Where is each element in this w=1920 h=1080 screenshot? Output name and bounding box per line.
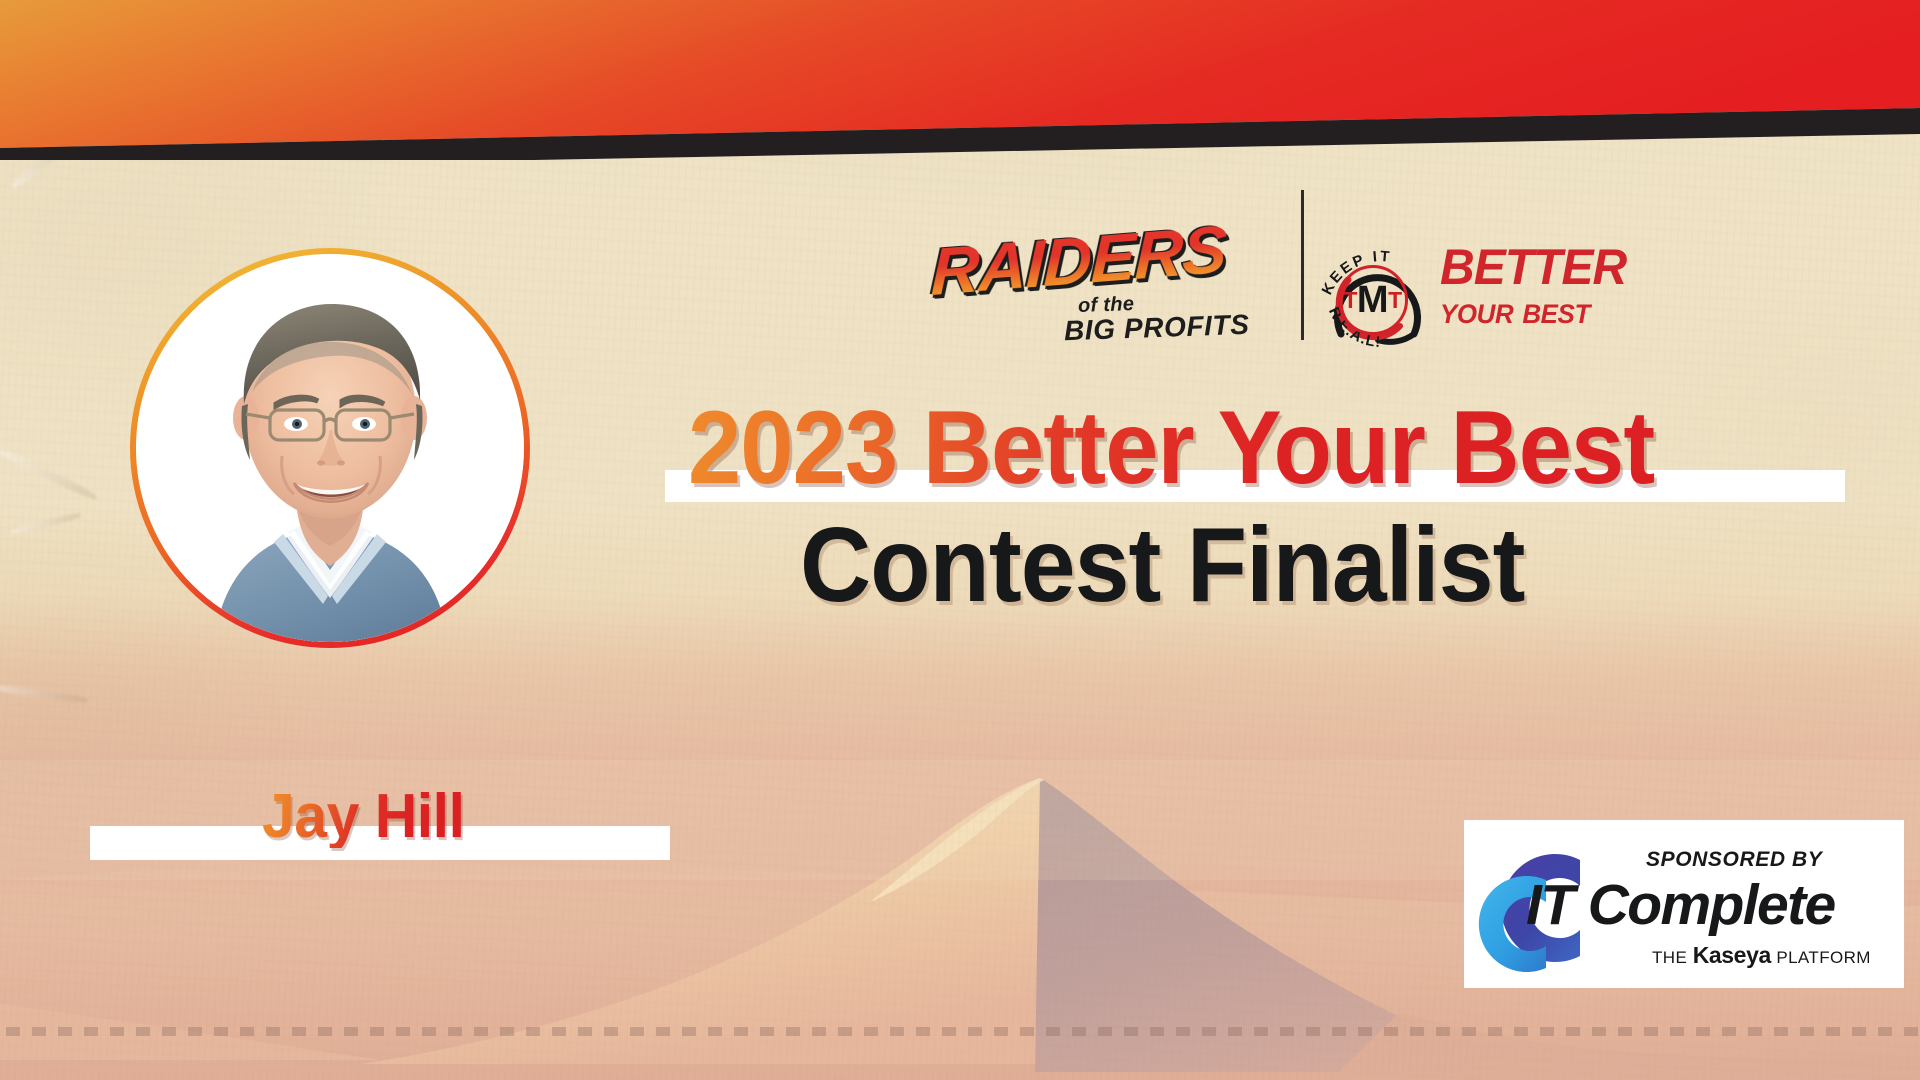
sponsor-card: SPONSORED BY IT Complete THE Kaseya PLAT… [1464,820,1904,988]
tmt-logo: KEEP IT R.E.A.L! TMT [1318,232,1442,366]
tmt-monogram: TMT [1338,265,1408,335]
dashed-track-line [0,1027,1920,1036]
top-banner [0,0,1920,160]
platform-word: PLATFORM [1776,948,1871,967]
it-complete-wordmark: IT Complete [1526,872,1835,938]
paper-crease-overlay [0,120,150,1000]
platform-brand: Kaseya [1693,942,1771,968]
kaseya-platform-label: THE Kaseya PLATFORM [1652,942,1871,969]
tmt-letter-m: M [1357,281,1389,319]
avatar-photo [136,254,524,642]
headline-line-2: Contest Finalist [800,512,1525,618]
tagline-best: BEST [1522,299,1590,329]
raiders-logo: RAIDERS of the BIG PROFITS [930,228,1270,348]
headline-line-1: 2023 Better Your Best [688,396,1774,500]
sponsored-by-label: SPONSORED BY [1646,848,1822,872]
logo-divider [1301,190,1304,340]
tmt-letter-t-left: T [1343,289,1358,312]
tagline-your-best: YOUR BEST [1440,294,1690,329]
better-your-best-tagline: BETTER YOUR BEST [1440,244,1700,329]
promo-poster: RAIDERS of the BIG PROFITS KEEP IT [0,0,1920,1080]
platform-the: THE [1652,948,1687,967]
tagline-better: BETTER [1440,244,1690,291]
raiders-subtitle: BIG PROFITS [1063,309,1250,347]
tmt-letter-t-right: T [1388,289,1403,312]
nameplate-name: Jay Hill [262,786,464,848]
avatar [130,248,530,648]
tagline-your: YOUR [1440,299,1513,329]
